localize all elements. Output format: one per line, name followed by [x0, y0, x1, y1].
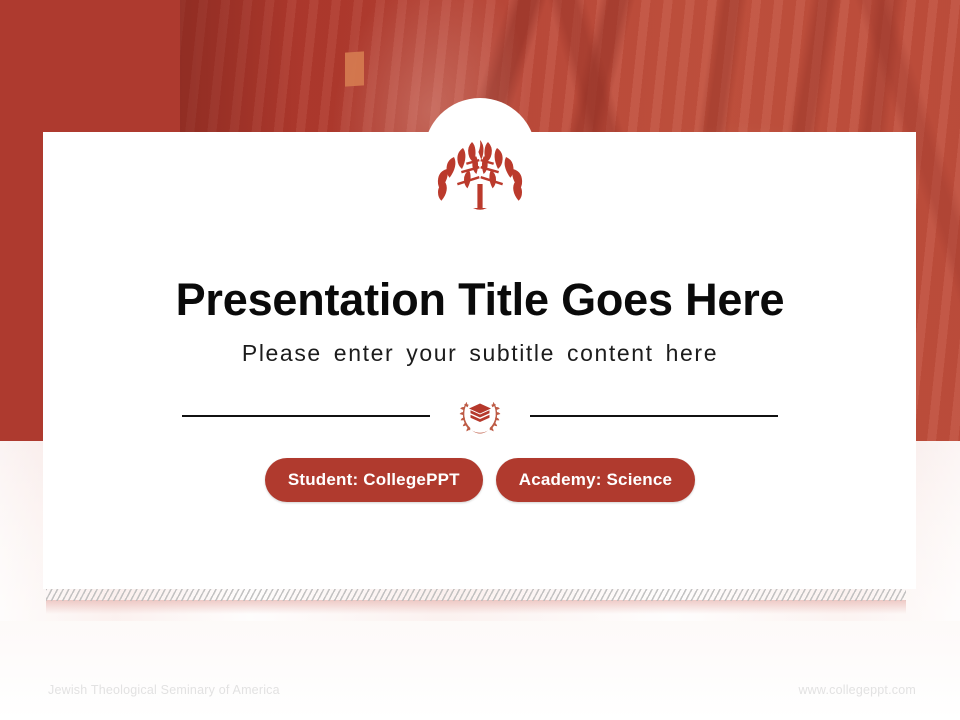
- slide-subtitle: Please enter your subtitle content here: [0, 340, 960, 367]
- divider-rule-right: [530, 415, 778, 417]
- footer-website: www.collegeppt.com: [798, 683, 916, 697]
- photo-sign-object: [345, 51, 364, 86]
- graduation-cap-laurel-emblem: [456, 393, 504, 439]
- slide-title: Presentation Title Goes Here: [0, 274, 960, 326]
- footer-institution: Jewish Theological Seminary of America: [48, 683, 280, 697]
- jts-burning-bush-logo: [432, 126, 528, 218]
- presentation-slide: Presentation Title Goes Here Please ente…: [0, 0, 960, 720]
- divider-rule-left: [182, 415, 430, 417]
- card-drop-shadow: [46, 600, 906, 614]
- tag-student[interactable]: Student: CollegePPT: [265, 458, 483, 502]
- hatched-accent-strip: [46, 588, 906, 601]
- tag-row: Student: CollegePPT Academy: Science: [0, 458, 960, 502]
- tag-academy[interactable]: Academy: Science: [496, 458, 695, 502]
- divider: [0, 392, 960, 440]
